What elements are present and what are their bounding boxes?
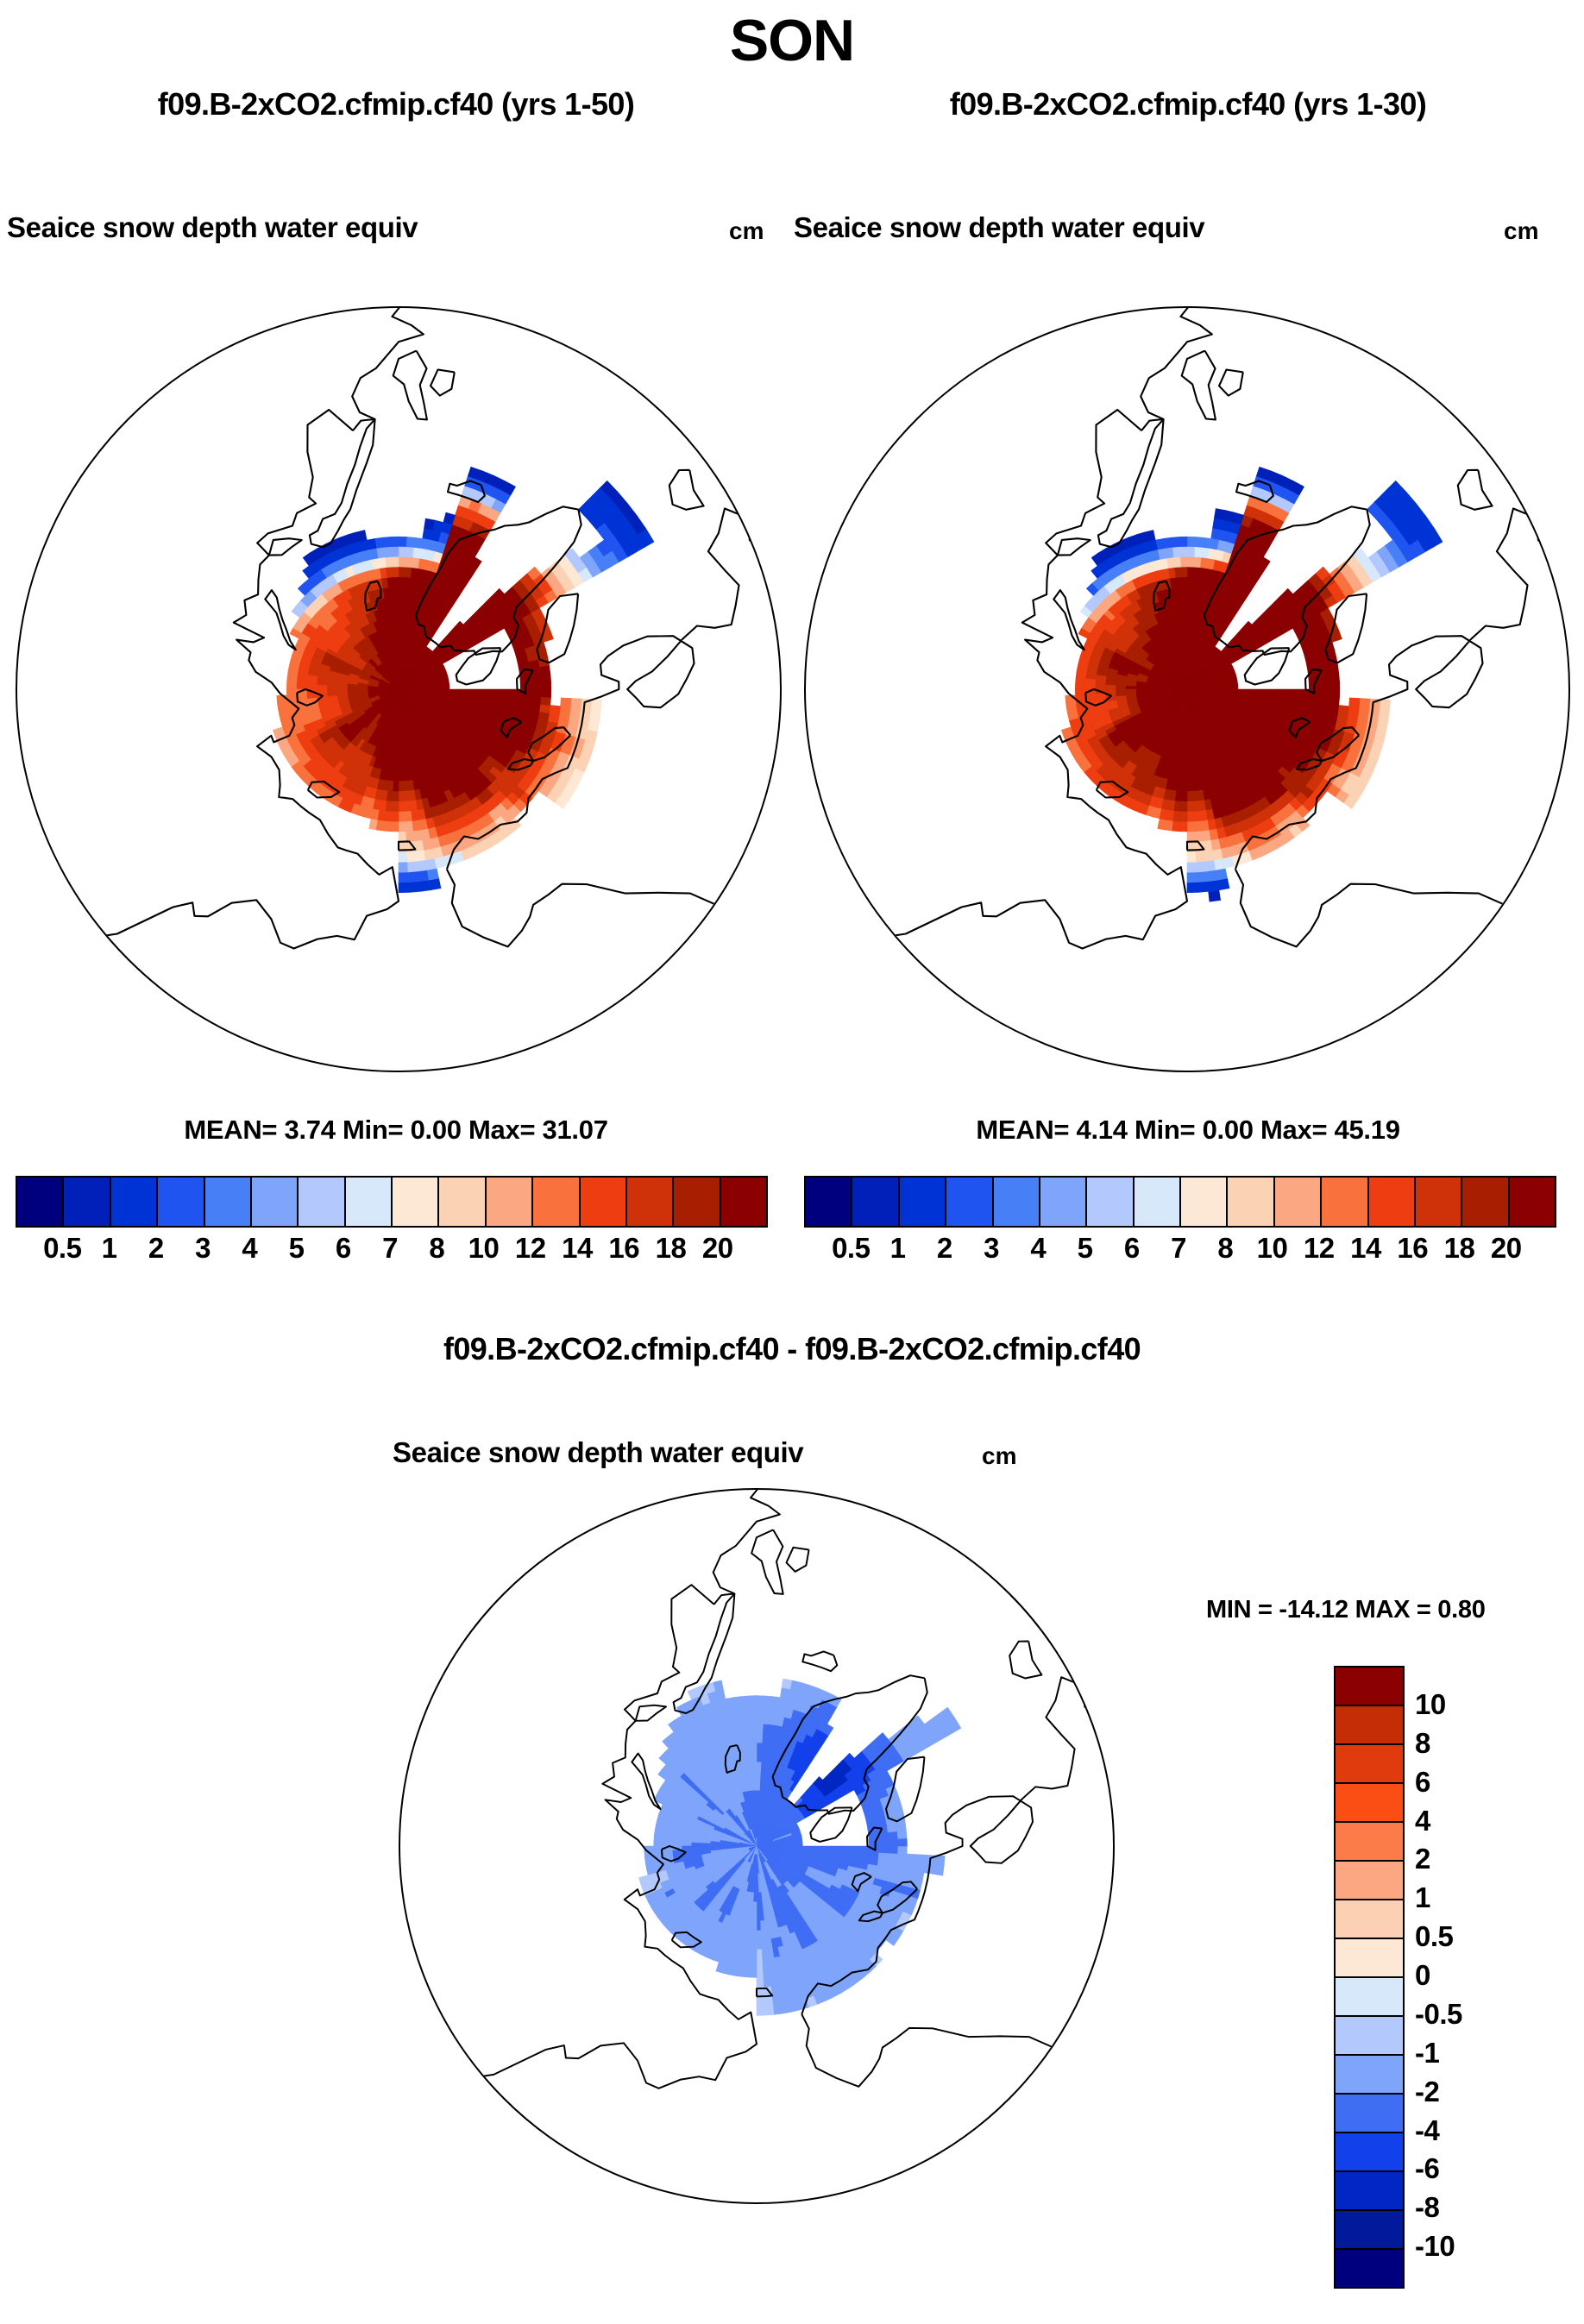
grid-cell [741,1696,750,1706]
grid-cell [286,689,297,695]
grid-cell [395,740,399,751]
grid-cell [1194,547,1202,557]
coastline-scandinavia_detail [1098,419,1164,547]
grid-cell [399,811,405,821]
grid-cell [399,882,409,893]
grid-cell [1217,878,1229,890]
grid-cell [558,715,569,725]
grid-cell [878,1846,888,1853]
grid-cell [757,1753,762,1762]
grid-cell [802,1846,812,1849]
grid-cell [757,2006,765,2015]
grid-cell [559,707,570,717]
grid-cell [663,1837,673,1842]
grid-cell [757,1800,759,1810]
grid-cell [405,547,413,557]
grid-cell [1329,674,1340,682]
grid-cell [888,1846,897,1854]
grid-cell [742,1705,750,1716]
grid-cell [771,1697,780,1707]
grid-cell [399,781,404,791]
grid-cell [393,791,399,801]
grid-cell [399,598,404,608]
grid-cell [1179,760,1184,770]
grid-cell [1179,537,1187,547]
grid-cell [751,1958,757,1968]
grid-cell [399,872,409,882]
grid-cell [757,1696,764,1705]
grid-cell [1368,708,1380,719]
grid-cell [1187,568,1193,578]
grid-cell [337,686,348,689]
grid-cell [757,1705,764,1715]
grid-cell [399,851,408,862]
grid-cell [1187,862,1197,872]
grid-cell [393,770,399,781]
grid-cell [761,1753,766,1762]
grid-cell [1179,821,1187,832]
grid-cell [591,700,602,711]
grid-cell [519,702,531,710]
grid-cell [757,1939,762,1949]
grid-cell [399,649,401,659]
grid-cell [915,1855,926,1864]
grid-cell [399,628,402,638]
grid-cell [541,689,551,697]
grid-cell [757,1781,760,1791]
grid-cell [540,697,551,706]
grid-cell [746,1939,752,1949]
grid-cell [399,547,406,557]
grid-cell [1197,871,1207,882]
grid-cell [1356,716,1368,727]
grid-cell [750,1715,757,1724]
grid-cell [751,1724,757,1734]
grid-cell [764,1995,773,2006]
grid-cell [654,1841,663,1846]
grid-cell [754,1892,757,1901]
grid-cell [762,1734,768,1743]
grid-cell [1197,861,1207,872]
grid-cell [744,1958,751,1969]
grid-cell [1173,811,1181,821]
grid-cell [757,1810,758,1819]
grid-cell [743,1968,751,1978]
grid-cell [1201,548,1210,559]
grid-cell [897,1831,908,1839]
grid-cell [1348,707,1359,717]
grid-cell [399,577,405,587]
grid-cell [394,760,399,770]
grid-cell [1289,689,1299,695]
grid-cell [1180,557,1187,568]
grid-cell [1209,890,1221,901]
grid-cell [1181,568,1187,578]
grid-cell [840,1850,850,1856]
coastline-ireland [1219,370,1243,396]
grid-cell [390,760,395,770]
grid-cell [1147,688,1157,690]
grid-cell [1179,547,1187,557]
grid-cell [1279,689,1289,694]
grid-cell [673,1842,682,1846]
grid-cell [757,1996,765,2006]
grid-cell [1185,719,1188,730]
grid-cell [1329,689,1340,697]
grid-cell [402,608,407,619]
grid-cell [399,537,406,547]
grid-cell [888,1839,897,1847]
grid-cell [1187,801,1193,812]
grid-cell [384,820,392,831]
grid-cell [887,1860,897,1869]
grid-cell [399,638,401,649]
grid-cell [654,1836,663,1842]
grid-cell [399,587,404,598]
grid-cell [413,537,423,549]
grid-cell [757,1968,764,1977]
grid-cell [1376,719,1388,732]
data-field [273,467,654,892]
grid-cell [1258,693,1268,698]
grid-cell [399,832,406,842]
grid-cell [530,675,540,682]
grid-cell [399,791,405,801]
grid-cell [1178,770,1183,781]
grid-cell [1187,547,1195,557]
grid-cell [408,861,418,872]
grid-cell [906,1854,916,1862]
grid-cell [389,770,394,781]
grid-cell [1187,638,1190,649]
grid-cell [405,568,412,578]
grid-cell [589,709,600,721]
grid-cell [1349,698,1361,707]
grid-cell [383,537,392,548]
grid-cell [387,790,393,801]
grid-cell [1181,801,1187,812]
grid-cell [1187,557,1194,568]
grid-cell [1187,619,1191,629]
grid-cell [1187,791,1193,801]
grid-cell [317,685,328,689]
grid-cell [423,529,433,540]
grid-cell [1378,709,1389,721]
grid-cell [751,1930,757,1939]
grid-cell [757,1734,763,1743]
grid-cell [1181,577,1187,587]
grid-cell [396,730,399,740]
grid-cell [286,683,297,689]
grid-cell [1182,770,1187,781]
grid-cell [1308,702,1319,710]
grid-cell [480,689,490,694]
grid-cell [550,706,561,715]
grid-cell [821,1846,831,1850]
grid-cell [1183,760,1187,770]
grid-cell [1165,820,1173,831]
grid-cell [529,703,540,712]
grid-cell [1248,689,1259,693]
grid-cell [878,1839,888,1846]
grid-cell [408,871,418,882]
grid-cell [859,1851,869,1857]
grid-cell [905,1862,915,1871]
grid-cell [439,689,449,692]
grid-cell [736,1967,744,1977]
grid-cell [307,680,317,685]
grid-cell [1268,689,1279,694]
grid-cell [877,1859,888,1867]
grid-cell [783,1846,793,1848]
grid-cell [765,2005,775,2015]
grid-cell [403,598,408,608]
grid-cell [782,1679,792,1690]
grid-cell [1085,679,1096,685]
grid-cell [1116,686,1127,689]
grid-cell [764,1696,773,1706]
grid-cell [588,719,600,732]
grid-cell [391,547,399,557]
grid-cell [1174,801,1181,811]
grid-cell [761,1762,766,1772]
grid-cell [751,1734,757,1743]
grid-cell [1193,557,1201,568]
grid-cell [751,1939,757,1949]
grid-cell [1213,518,1223,530]
grid-cell [770,1706,779,1717]
grid-cell [757,1762,761,1772]
grid-cell [397,719,399,730]
grid-cell [1192,578,1198,588]
grid-cell [745,1949,751,1958]
grid-cell [490,694,500,700]
grid-cell [393,801,399,812]
grid-cell [1184,751,1187,761]
grid-cell [541,681,551,689]
coastline-newfoundland [669,470,704,510]
grid-cell [539,704,550,713]
grid-cell [711,1843,720,1846]
grid-cell [1288,694,1298,700]
grid-cell [757,1743,762,1753]
grid-cell [578,718,590,729]
right-panel-unit-label: cm [1504,217,1538,245]
grid-cell [751,1753,757,1762]
grid-cell [1106,681,1116,686]
data-field [639,1679,961,2015]
grid-cell [418,880,431,891]
grid-cell [1228,689,1238,692]
grid-cell [520,695,531,703]
grid-cell [392,811,399,821]
grid-cell [531,689,541,697]
grid-cell [673,1837,682,1843]
grid-cell [510,695,520,702]
coastline-ireland [431,370,455,396]
grid-cell [869,1852,879,1859]
grid-cell [407,851,417,863]
coastline-layer [400,1490,1113,2202]
grid-cell [1309,695,1319,703]
grid-cell [469,693,480,698]
grid-cell [763,1724,770,1735]
grid-cell [1172,547,1180,557]
grid-cell [1367,718,1379,729]
grid-cell [1214,509,1225,521]
grid-cell [897,1838,907,1846]
grid-cell [1191,608,1196,619]
grid-cell [412,548,421,559]
grid-cell [1172,537,1180,548]
grid-cell [399,608,403,619]
grid-cell [429,689,439,692]
grid-cell [393,781,399,791]
grid-cell [753,1901,757,1911]
grid-cell [743,1715,751,1725]
grid-cell [1075,683,1085,689]
grid-cell [399,862,408,872]
right-panel-run-title: f09.B-2xCO2.cfmip.cf40 (yrs 1-30) [792,86,1584,122]
grid-cell [500,689,511,695]
grid-cell [692,1843,701,1846]
coastline-newfoundland [1458,470,1493,510]
grid-cell [418,870,429,882]
grid-cell [1187,781,1192,791]
left-polar-map [16,306,782,1072]
grid-cell [1318,696,1329,704]
left-panel-unit-label: cm [729,217,764,245]
grid-cell [753,1911,757,1920]
grid-cell [530,696,540,704]
grid-cell [1329,681,1340,689]
grid-cell [915,1862,925,1872]
grid-cell [297,679,307,685]
grid-cell [393,587,399,598]
grid-cell [328,686,338,689]
grid-cell [869,1840,878,1846]
grid-cell [831,1846,840,1850]
grid-cell [427,869,438,881]
grid-cell [764,1705,771,1716]
grid-cell [1076,677,1086,683]
left-panel-run-title: f09.B-2xCO2.cfmip.cf40 (yrs 1-50) [0,86,792,122]
grid-cell [1216,869,1227,881]
grid-cell [1187,587,1192,598]
grid-cell [878,1852,889,1860]
coastline-novaya_zemlya [265,590,296,650]
grid-cell [757,1715,764,1724]
grid-cell [1187,851,1197,862]
grid-cell [1187,882,1197,893]
grid-cell [392,557,399,568]
grid-cell [1187,577,1193,587]
grid-cell [840,1846,850,1851]
grid-cell [1258,689,1268,694]
grid-cell [701,1843,711,1846]
grid-cell [913,1871,924,1881]
coastline-layer [17,308,780,1071]
grid-cell [1279,694,1289,700]
grid-cell [1380,700,1391,711]
grid-cell [388,781,394,791]
grid-cell [406,831,415,842]
grid-cell [764,1977,771,1988]
grid-cell [757,1949,763,1958]
grid-cell [763,1968,770,1978]
grid-cell [896,1861,906,1869]
grid-cell [391,537,399,547]
grid-cell [770,1716,777,1726]
grid-cell [1318,675,1329,682]
grid-cell [500,694,510,700]
grid-cell [1206,870,1217,882]
left-panel-variable-title: Seaice snow depth water equiv [7,211,418,244]
grid-cell [1075,689,1085,695]
grid-cell [531,681,541,689]
grid-cell [1187,537,1195,547]
grid-cell [399,619,402,629]
grid-cell [1180,811,1187,821]
grid-cell [850,1846,859,1851]
grid-cell [812,1846,821,1850]
grid-cell [460,689,470,693]
grid-cell [1202,537,1211,549]
grid-cell [406,537,415,548]
grid-cell [1195,537,1204,548]
grid-cell [780,1688,789,1699]
grid-cell [897,1846,907,1854]
grid-cell [386,801,393,811]
grid-cell [1298,695,1309,702]
grid-cell [1217,689,1228,692]
grid-cell [384,547,392,557]
grid-cell [1196,851,1205,863]
grid-cell [1187,598,1192,608]
coastline-layer [806,308,1568,1071]
grid-cell [1319,681,1329,689]
coastline-uk [1182,351,1216,420]
grid-cell [1106,685,1116,689]
coastline-novaya_zemlya [1053,590,1084,650]
grid-cell [757,1930,762,1939]
grid-cell [1329,697,1340,706]
grid-cell [762,1743,768,1753]
grid-cell [1358,707,1369,718]
coastline-uk [393,351,427,420]
grid-cell [757,1724,763,1734]
grid-cell [682,1843,692,1847]
grid-cell [1347,715,1358,725]
grid-cell [1187,821,1195,832]
difference-polar-map [399,1488,1115,2204]
grid-cell [763,1715,770,1725]
grid-cell [1193,568,1200,578]
grid-cell [317,681,328,686]
grid-cell [395,751,399,761]
grid-cell [287,677,298,683]
grid-cell [888,1831,898,1839]
grid-cell [1192,587,1198,598]
grid-cell [540,674,551,682]
grid-cell [1096,684,1106,689]
grid-cell [757,1958,763,1968]
grid-cell [1187,832,1195,842]
grid-cell [424,518,435,530]
grid-cell [1166,810,1174,821]
grid-cell [1177,781,1183,791]
grid-cell [1359,699,1370,709]
